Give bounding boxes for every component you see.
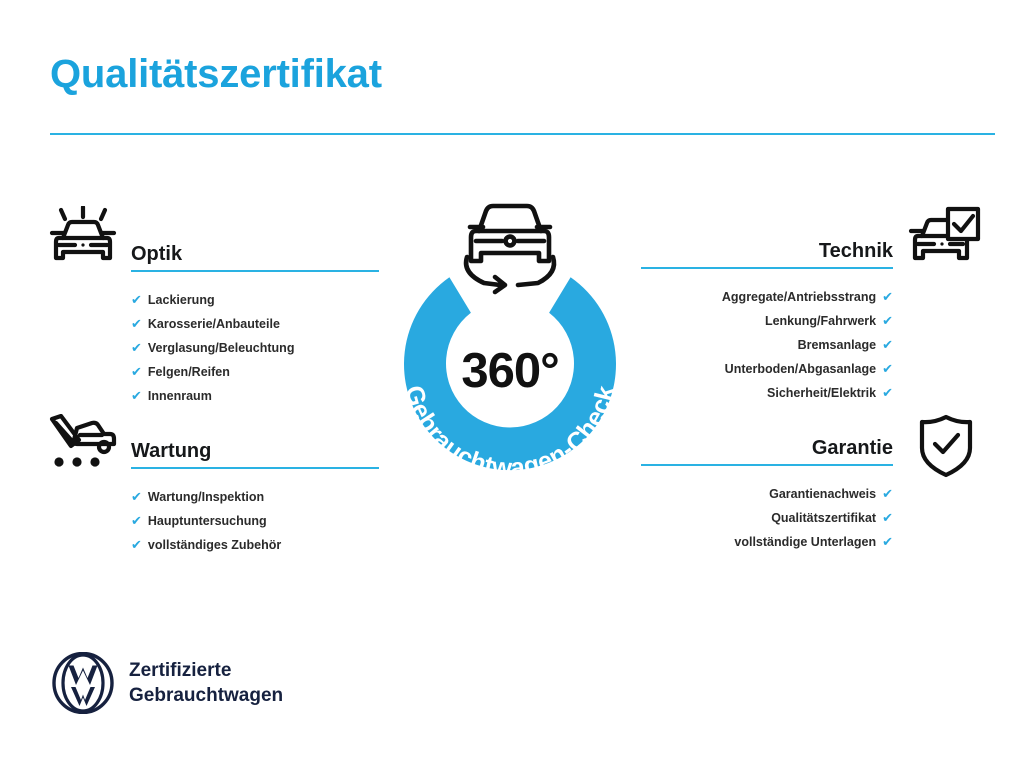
car-checkbox-icon — [908, 206, 982, 277]
section-garantie-divider — [641, 464, 893, 466]
section-technik-items: Aggregate/Antriebsstrang ✔ Lenkung/Fahrw… — [641, 285, 893, 405]
section-wartung-items: ✔ Wartung/Inspektion ✔ Hauptuntersuchung… — [131, 485, 379, 557]
list-item: ✔ Felgen/Reifen — [131, 360, 379, 384]
certificate-page: Qualitätszertifikat — [0, 0, 1024, 768]
check-icon: ✔ — [882, 333, 893, 357]
list-item: Qualitätszertifikat ✔ — [641, 506, 893, 530]
section-technik-title: Technik — [641, 238, 893, 264]
list-item-label: Wartung/Inspektion — [148, 485, 264, 509]
list-item-label: Hauptuntersuchung — [148, 509, 267, 533]
check-icon: ✔ — [882, 357, 893, 381]
car-rotation-icon — [454, 197, 566, 297]
list-item: ✔ Karosserie/Anbauteile — [131, 312, 379, 336]
list-item-label: vollständiges Zubehör — [148, 533, 281, 557]
360-check-badge: Gebrauchtwagen-Check 360° — [374, 197, 646, 493]
list-item-label: Verglasung/Beleuchtung — [148, 336, 295, 360]
check-icon: ✔ — [882, 285, 893, 309]
list-item: Garantienachweis ✔ — [641, 482, 893, 506]
section-wartung-divider — [131, 467, 379, 469]
vw-certified-logo: Zertifizierte Gebrauchtwagen — [52, 652, 283, 714]
check-icon: ✔ — [131, 288, 142, 312]
section-garantie-title: Garantie — [641, 435, 893, 461]
list-item: ✔ Lackierung — [131, 288, 379, 312]
check-icon: ✔ — [131, 360, 142, 384]
check-icon: ✔ — [882, 381, 893, 405]
list-item-label: Unterboden/Abgasanlage — [725, 357, 876, 381]
section-garantie: Garantie Garantienachweis ✔ Qualitätszer… — [641, 435, 893, 554]
check-icon: ✔ — [131, 533, 142, 557]
section-optik-title: Optik — [131, 241, 379, 267]
list-item: Aggregate/Antriebsstrang ✔ — [641, 285, 893, 309]
vw-logo — [52, 652, 114, 714]
list-item-label: Karosserie/Anbauteile — [148, 312, 280, 336]
list-item-label: Bremsanlage — [798, 333, 877, 357]
vw-wordmark-line1: Zertifizierte — [129, 658, 283, 683]
list-item: ✔ Verglasung/Beleuchtung — [131, 336, 379, 360]
check-icon: ✔ — [131, 384, 142, 408]
list-item: ✔ Hauptuntersuchung — [131, 509, 379, 533]
list-item-label: Lenkung/Fahrwerk — [765, 309, 876, 333]
list-item: ✔ Innenraum — [131, 384, 379, 408]
list-item: vollständige Unterlagen ✔ — [641, 530, 893, 554]
check-icon: ✔ — [131, 509, 142, 533]
section-garantie-header: Garantie — [641, 435, 893, 469]
section-optik: Optik ✔ Lackierung ✔ Karosserie/Anbautei… — [131, 241, 379, 408]
section-wartung: Wartung ✔ Wartung/Inspektion ✔ Hauptunte… — [131, 438, 379, 557]
vw-wordmark-line2: Gebrauchtwagen — [129, 683, 283, 708]
section-optik-items: ✔ Lackierung ✔ Karosserie/Anbauteile ✔ V… — [131, 288, 379, 408]
vw-wordmark: Zertifizierte Gebrauchtwagen — [129, 658, 283, 708]
list-item-label: Aggregate/Antriebsstrang — [722, 285, 876, 309]
list-item: ✔ vollständiges Zubehör — [131, 533, 379, 557]
list-item: Bremsanlage ✔ — [641, 333, 893, 357]
section-technik-divider — [641, 267, 893, 269]
list-item-label: vollständige Unterlagen — [734, 530, 876, 554]
list-item-label: Innenraum — [148, 384, 212, 408]
list-item-label: Qualitätszertifikat — [771, 506, 876, 530]
page-title: Qualitätszertifikat — [50, 52, 382, 97]
check-icon: ✔ — [131, 485, 142, 509]
list-item: ✔ Wartung/Inspektion — [131, 485, 379, 509]
list-item-label: Sicherheit/Elektrik — [767, 381, 876, 405]
check-icon: ✔ — [882, 309, 893, 333]
check-icon: ✔ — [131, 312, 142, 336]
list-item-label: Lackierung — [148, 288, 215, 312]
section-garantie-items: Garantienachweis ✔ Qualitätszertifikat ✔… — [641, 482, 893, 554]
section-optik-divider — [131, 270, 379, 272]
car-shine-icon — [47, 206, 119, 279]
list-item: Sicherheit/Elektrik ✔ — [641, 381, 893, 405]
check-icon: ✔ — [882, 482, 893, 506]
list-item-label: Felgen/Reifen — [148, 360, 230, 384]
shield-check-icon — [918, 414, 974, 483]
section-wartung-header: Wartung — [131, 438, 379, 472]
badge-number: 360° — [374, 343, 646, 399]
list-item: Unterboden/Abgasanlage ✔ — [641, 357, 893, 381]
title-divider — [50, 133, 995, 135]
section-technik-header: Technik — [641, 238, 893, 272]
check-icon: ✔ — [131, 336, 142, 360]
check-icon: ✔ — [882, 506, 893, 530]
section-technik: Technik Aggregate/Antriebsstrang ✔ Lenku… — [641, 238, 893, 405]
section-wartung-title: Wartung — [131, 438, 379, 464]
check-icon: ✔ — [882, 530, 893, 554]
list-item: Lenkung/Fahrwerk ✔ — [641, 309, 893, 333]
pen-car-service-icon — [47, 414, 119, 481]
section-optik-header: Optik — [131, 241, 379, 275]
list-item-label: Garantienachweis — [769, 482, 876, 506]
